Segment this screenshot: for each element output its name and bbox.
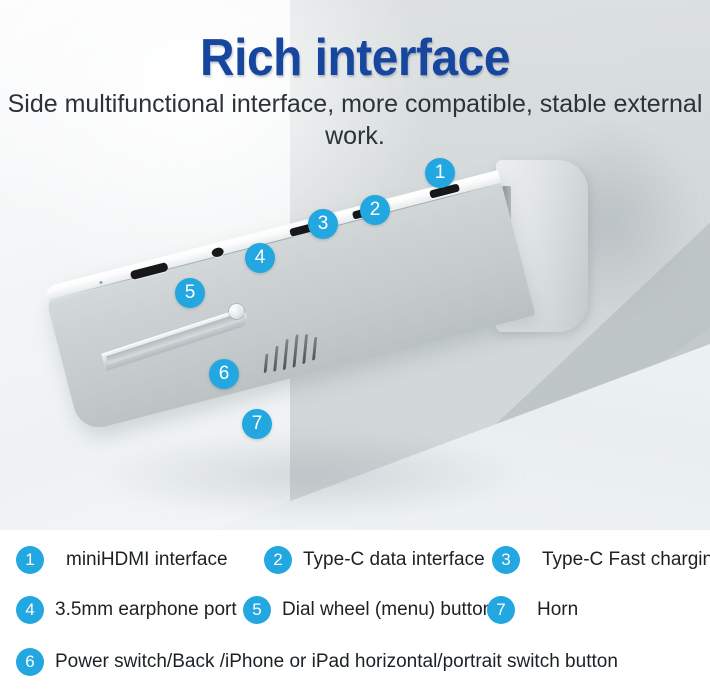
legend-badge-5: 5 [243,596,271,624]
callout-badge-1: 1 [425,158,455,188]
product-infographic: 1 2 3 4 5 6 7 Rich interface Side multif… [0,0,710,699]
legend-label-2: Type-C data interface [303,549,485,571]
callout-badge-5: 5 [175,278,205,308]
legend-label-6: Power switch/Back /iPhone or iPad horizo… [55,651,618,673]
legend-label-3: Type-C Fast charging [542,549,710,571]
page-title: Rich interface [28,28,681,88]
legend-row-1: 1 miniHDMI interface 2 Type-C data inter… [0,546,710,580]
legend-label-1: miniHDMI interface [66,549,228,571]
legend-label-4: 3.5mm earphone port [55,599,237,621]
legend-item-2: 2 Type-C data interface [264,546,485,574]
callout-badge-2: 2 [360,195,390,225]
legend-item-5: 5 Dial wheel (menu) button [243,596,493,624]
callout-badge-3: 3 [308,209,338,239]
callout-badge-7: 7 [242,409,272,439]
legend-label-7: Horn [537,599,578,621]
legend-item-4: 4 3.5mm earphone port [16,596,237,624]
legend-item-7: 7 Horn [487,596,578,624]
legend-item-3: 3 Type-C Fast charging [492,546,710,574]
legend-badge-3: 3 [492,546,520,574]
legend-item-1: 1 miniHDMI interface [16,546,228,574]
callout-badge-4: 4 [245,243,275,273]
legend-badge-4: 4 [16,596,44,624]
legend-badge-6: 6 [16,648,44,676]
legend-row-3: 6 Power switch/Back /iPhone or iPad hori… [0,648,710,682]
callout-badge-6: 6 [209,359,239,389]
legend-badge-2: 2 [264,546,292,574]
legend-badge-7: 7 [487,596,515,624]
legend-label-5: Dial wheel (menu) button [282,599,493,621]
legend-badge-1: 1 [16,546,44,574]
legend-item-6: 6 Power switch/Back /iPhone or iPad hori… [16,648,618,676]
legend: 1 miniHDMI interface 2 Type-C data inter… [0,530,710,699]
page-subtitle: Side multifunctional interface, more com… [0,88,710,152]
legend-row-2: 4 3.5mm earphone port 5 Dial wheel (menu… [0,596,710,630]
